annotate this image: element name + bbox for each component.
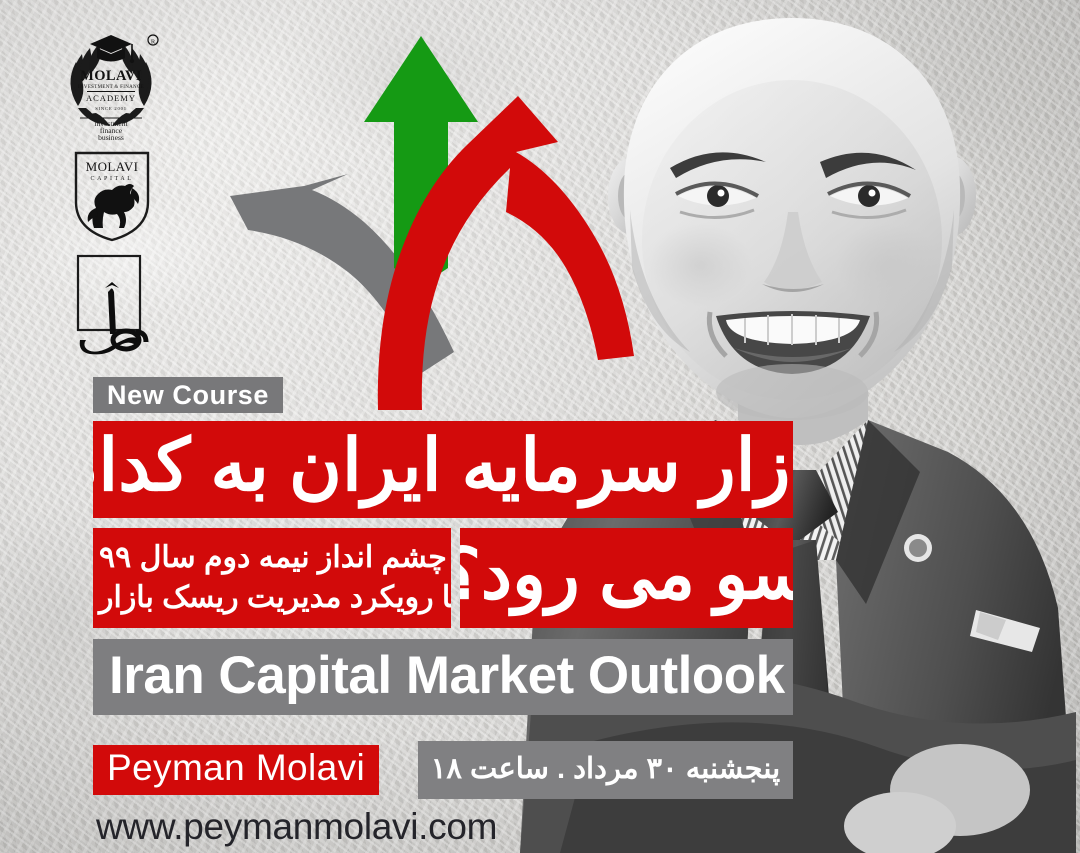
headline-text-line2: سو می رود؟ (460, 539, 793, 609)
subtitle-band: چشم انداز نیمه دوم سال ۹۹ با رویکرد مدیر… (93, 528, 451, 628)
brand-logo-stack: R MOLAVI INVESTMENT & FINANCE ACADEMY SI… (50, 22, 170, 362)
poster-canvas: R MOLAVI INVESTMENT & FINANCE ACADEMY SI… (0, 0, 1080, 853)
speaker-name-band: Peyman Molavi (93, 745, 379, 795)
speaker-name-text: Peyman Molavi (107, 747, 365, 789)
molavi-capital-logo: MOLAVI CAPITAL (72, 150, 152, 242)
event-date-band: پنجشنبه ۳۰ مرداد . ساعت ۱۸ (418, 741, 793, 799)
capital-name: MOLAVI (86, 159, 139, 174)
molavi-calligraphy-logo (72, 252, 152, 362)
event-date-text: پنجشنبه ۳۰ مرداد . ساعت ۱۸ (431, 751, 780, 786)
headline-text-line1: بازار سرمایه ایران به کدام (93, 430, 793, 502)
capital-sub: CAPITAL (90, 176, 133, 182)
academy-sub: INVESTMENT & FINANCE (78, 85, 144, 90)
academy-name: MOLAVI (80, 68, 142, 84)
english-title-text: Iran Capital Market Outlook (109, 645, 785, 706)
english-title-band: Iran Capital Market Outlook (93, 639, 793, 715)
molavi-academy-logo: R MOLAVI INVESTMENT & FINANCE ACADEMY SI… (56, 22, 166, 142)
new-course-badge: New Course (93, 377, 283, 413)
subtitle-line1: چشم انداز نیمه دوم سال ۹۹ (99, 538, 447, 578)
headline-band-line2: سو می رود؟ (460, 528, 793, 628)
academy-since: SINCE 2001 (95, 106, 127, 111)
three-way-arrows-graphic (220, 30, 640, 410)
subtitle-line2: با رویکرد مدیریت ریسک بازار (99, 578, 451, 618)
tagline-business: business (98, 133, 124, 142)
headline-band-line1: بازار سرمایه ایران به کدام (93, 421, 793, 518)
website-url[interactable]: www.peymanmolavi.com (96, 806, 497, 848)
academy-word: ACADEMY (86, 93, 136, 103)
registered-mark: R (151, 39, 156, 46)
